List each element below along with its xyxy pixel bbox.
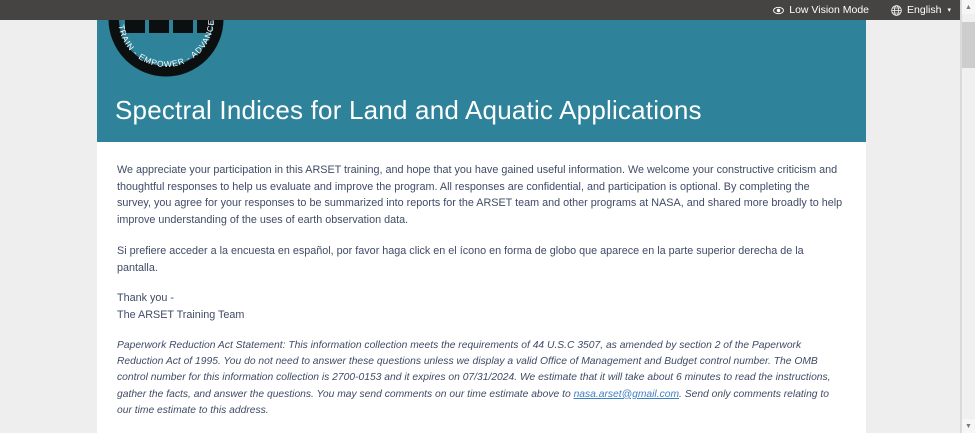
browser-viewport: Low Vision Mode English ▾: [0, 0, 975, 433]
intro-paragraph: We appreciate your participation in this…: [117, 162, 844, 229]
page-scrollbar[interactable]: ▲ ▼: [961, 0, 975, 433]
chevron-down-icon: ▾: [947, 7, 951, 14]
language-selector[interactable]: English ▾: [891, 4, 951, 16]
page-banner: TRAIN - EMPOWER - ADVANCE Spectral Indic…: [97, 20, 866, 142]
page-title: Spectral Indices for Land and Aquatic Ap…: [115, 95, 702, 126]
arset-email-link[interactable]: nasa.arset@gmail.com: [574, 389, 679, 400]
paperwork-reduction-act-statement: Paperwork Reduction Act Statement: This …: [117, 338, 844, 419]
low-vision-mode-button[interactable]: Low Vision Mode: [773, 4, 869, 16]
language-label: English: [907, 4, 941, 16]
low-vision-mode-label: Low Vision Mode: [789, 4, 869, 16]
scroll-down-button[interactable]: ▼: [962, 419, 975, 433]
utility-topbar: Low Vision Mode English ▾: [0, 0, 961, 20]
scrollbar-thumb[interactable]: [962, 22, 975, 68]
scroll-up-button[interactable]: ▲: [962, 0, 975, 14]
arset-logo: TRAIN - EMPOWER - ADVANCE: [105, 20, 227, 80]
globe-icon: [891, 5, 902, 16]
survey-card: TRAIN - EMPOWER - ADVANCE Spectral Indic…: [97, 20, 866, 433]
survey-intro-body: We appreciate your participation in this…: [97, 142, 866, 433]
scrollbar-track[interactable]: [962, 14, 975, 419]
spanish-notice-paragraph: Si prefiere acceder a la encuesta en esp…: [117, 243, 844, 276]
signature-thanks: Thank you -: [117, 292, 174, 304]
signature-block: Thank you - The ARSET Training Team: [117, 290, 844, 323]
eye-icon: [773, 5, 784, 16]
signature-team: The ARSET Training Team: [117, 309, 244, 321]
